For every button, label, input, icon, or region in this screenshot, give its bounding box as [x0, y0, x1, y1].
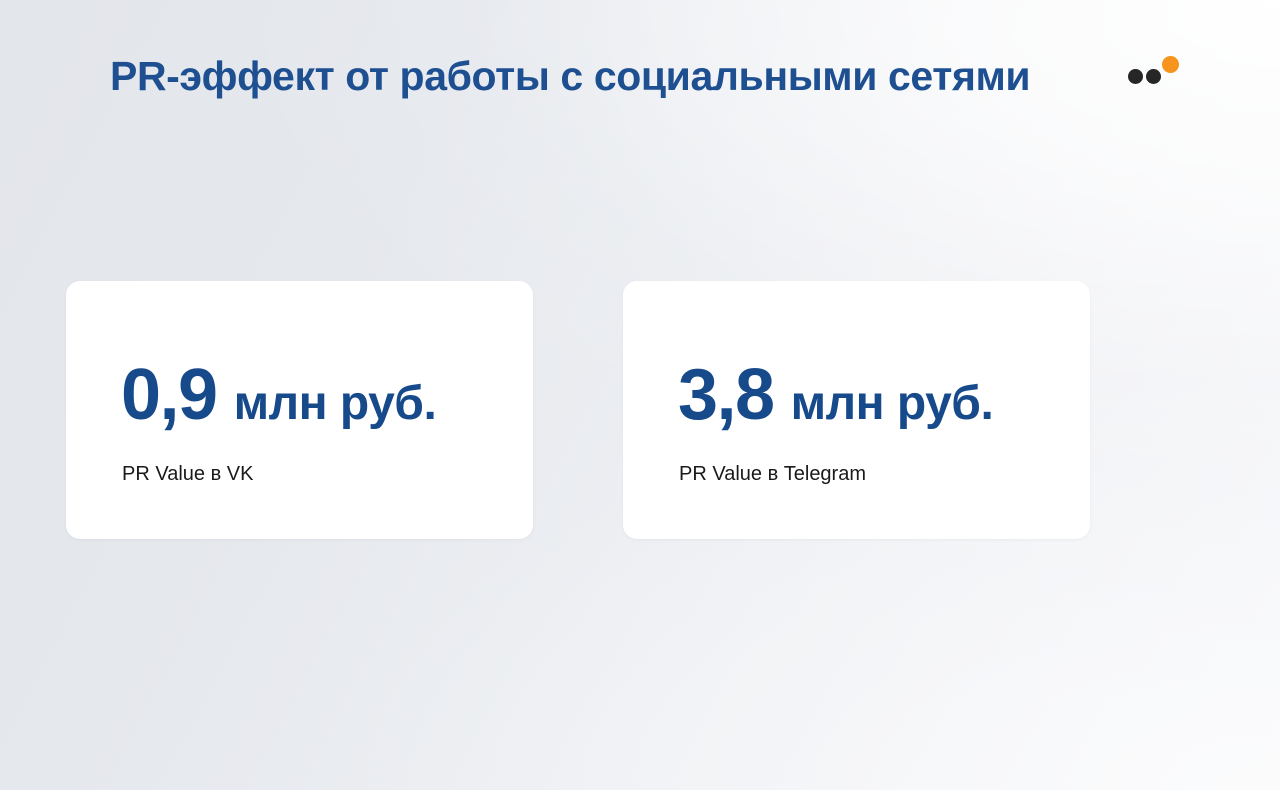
kpi-number: 0,9	[121, 359, 217, 431]
dot-dark-1-icon	[1128, 69, 1143, 84]
kpi-card-list: 0,9 млн руб. PR Value в VK 3,8 млн руб. …	[66, 281, 1090, 539]
presentation-slide: PR-эффект от работы с социальными сетями…	[0, 0, 1280, 790]
kpi-number: 3,8	[678, 359, 774, 431]
kpi-unit: млн руб.	[791, 368, 994, 440]
kpi-card-telegram: 3,8 млн руб. PR Value в Telegram	[623, 281, 1090, 539]
dot-orange-icon	[1162, 56, 1179, 73]
kpi-label: PR Value в VK	[122, 461, 253, 487]
three-dots-logo	[1124, 52, 1186, 88]
dot-dark-2-icon	[1146, 69, 1161, 84]
kpi-value-row: 3,8 млн руб.	[678, 359, 1070, 440]
kpi-card-vk: 0,9 млн руб. PR Value в VK	[66, 281, 533, 539]
kpi-label: PR Value в Telegram	[679, 461, 866, 487]
kpi-unit: млн руб.	[234, 368, 437, 440]
kpi-value-row: 0,9 млн руб.	[121, 359, 513, 440]
page-title: PR-эффект от работы с социальными сетями	[110, 50, 1030, 102]
